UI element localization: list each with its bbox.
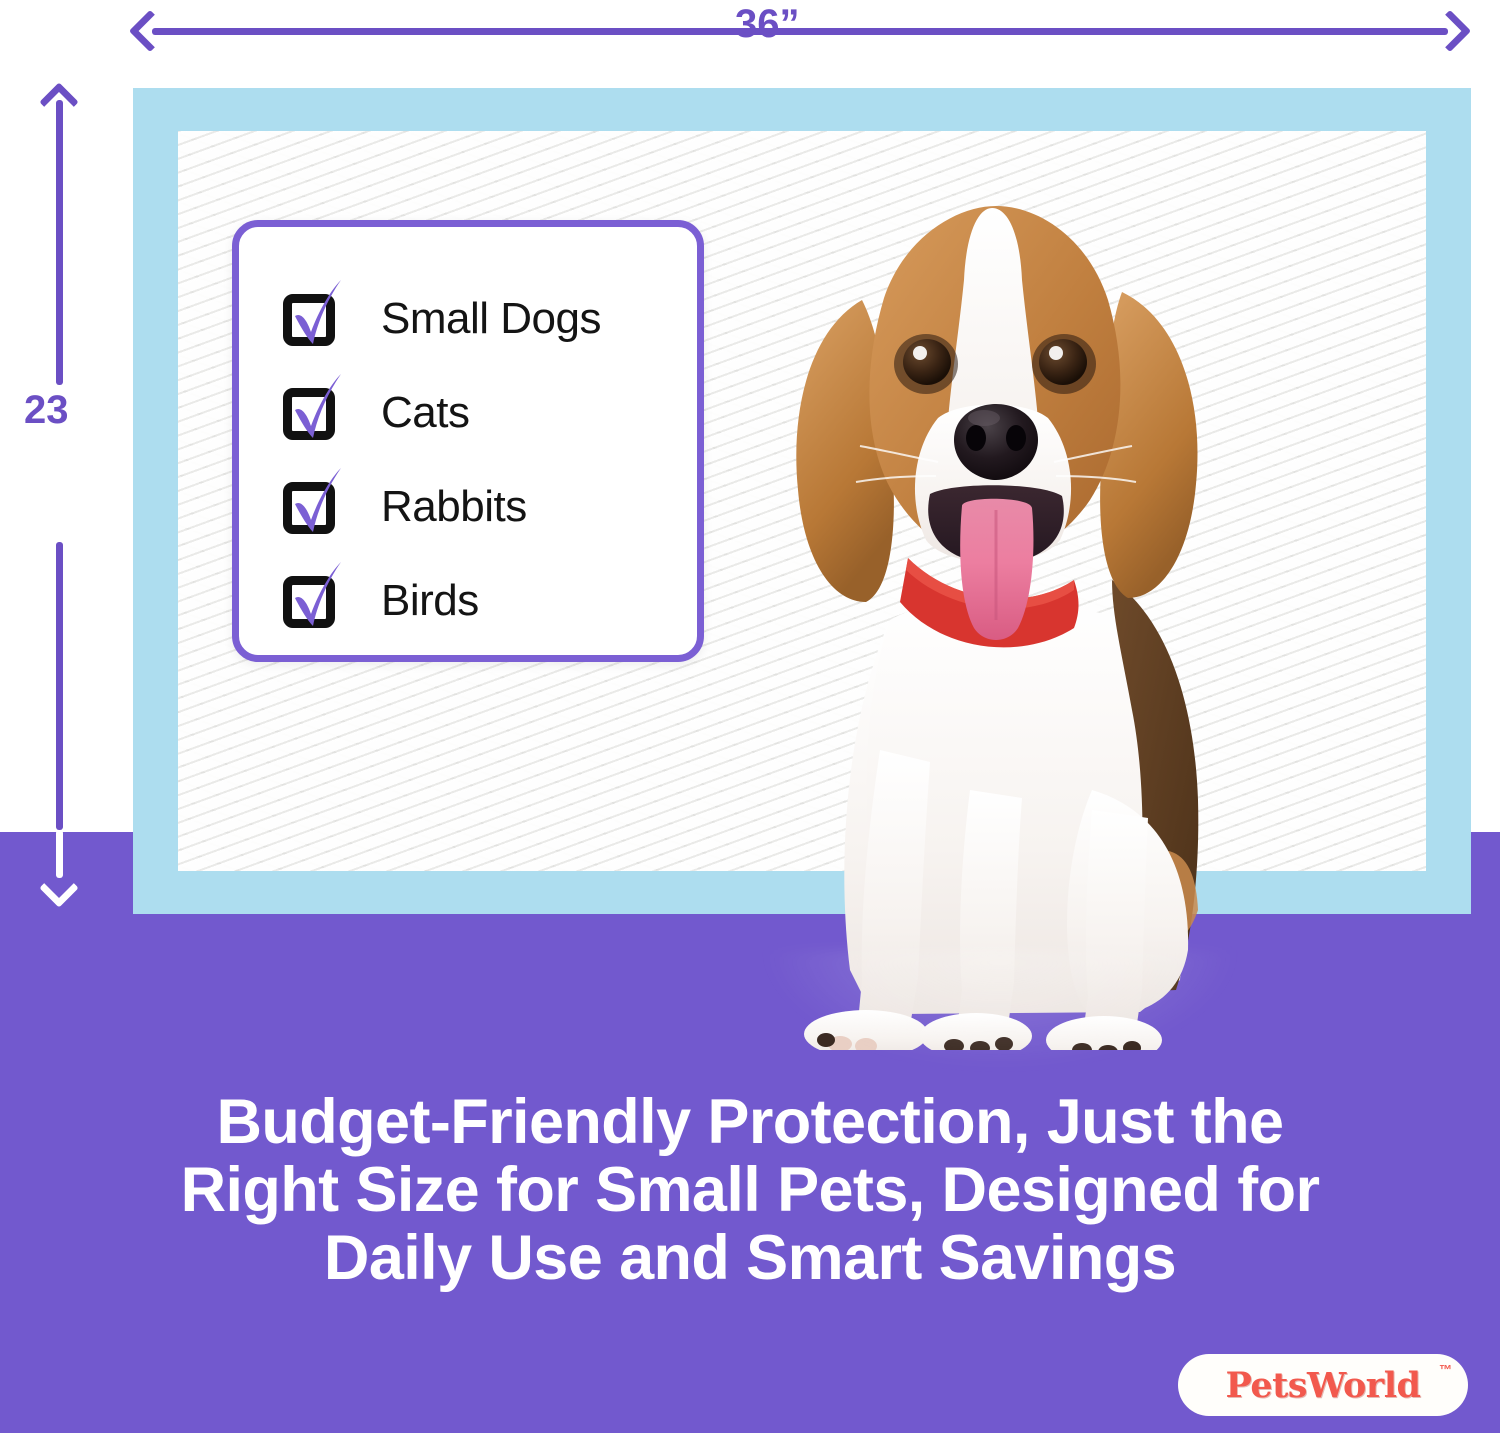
checkbox-checked-icon	[281, 382, 343, 444]
checklist-label: Cats	[381, 391, 469, 435]
checklist-item-cats: Cats	[281, 366, 679, 460]
checklist-label: Small Dogs	[381, 297, 601, 341]
caption-line-1: Budget-Friendly Protection, Just the	[90, 1088, 1410, 1156]
caption-line-3: Daily Use and Smart Savings	[90, 1224, 1410, 1292]
marketing-caption: Budget-Friendly Protection, Just the Rig…	[90, 1088, 1410, 1292]
width-dimension-label: 36”	[735, 2, 800, 47]
trademark-symbol: ™	[1439, 1362, 1452, 1377]
compatible-pets-checklist-card: Small Dogs Cats Rabbits	[232, 220, 704, 662]
checklist-label: Rabbits	[381, 485, 527, 529]
double-arrow-vertical-icon	[36, 82, 84, 922]
dimension-line-vertical-bottom	[56, 542, 63, 830]
dog-photo	[740, 150, 1300, 1050]
checklist-label: Birds	[381, 579, 479, 623]
arrow-head-right-icon	[1429, 10, 1471, 52]
dimension-line-horizontal	[152, 28, 1448, 35]
height-dimension-label: 23	[24, 388, 69, 433]
checklist-item-rabbits: Rabbits	[281, 460, 679, 554]
brand-name: PetsWorld	[1225, 1365, 1420, 1406]
dog-reflection	[760, 950, 1240, 1070]
double-arrow-horizontal-icon	[130, 8, 1470, 56]
caption-line-2: Right Size for Small Pets, Designed for	[90, 1156, 1410, 1224]
checklist-item-birds: Birds	[281, 554, 679, 648]
product-image-stage: Small Dogs Cats Rabbits	[0, 0, 1500, 1433]
checkbox-checked-icon	[281, 476, 343, 538]
checkbox-checked-icon	[281, 570, 343, 632]
checkbox-checked-icon	[281, 288, 343, 350]
brand-logo: PetsWorld ™	[1178, 1354, 1468, 1416]
checklist-items: Small Dogs Cats Rabbits	[281, 272, 679, 648]
checklist-item-small-dogs: Small Dogs	[281, 272, 679, 366]
arrow-head-down-icon	[39, 868, 79, 908]
dimension-line-vertical-top	[56, 100, 63, 385]
beagle-dog-illustration	[740, 150, 1300, 1050]
